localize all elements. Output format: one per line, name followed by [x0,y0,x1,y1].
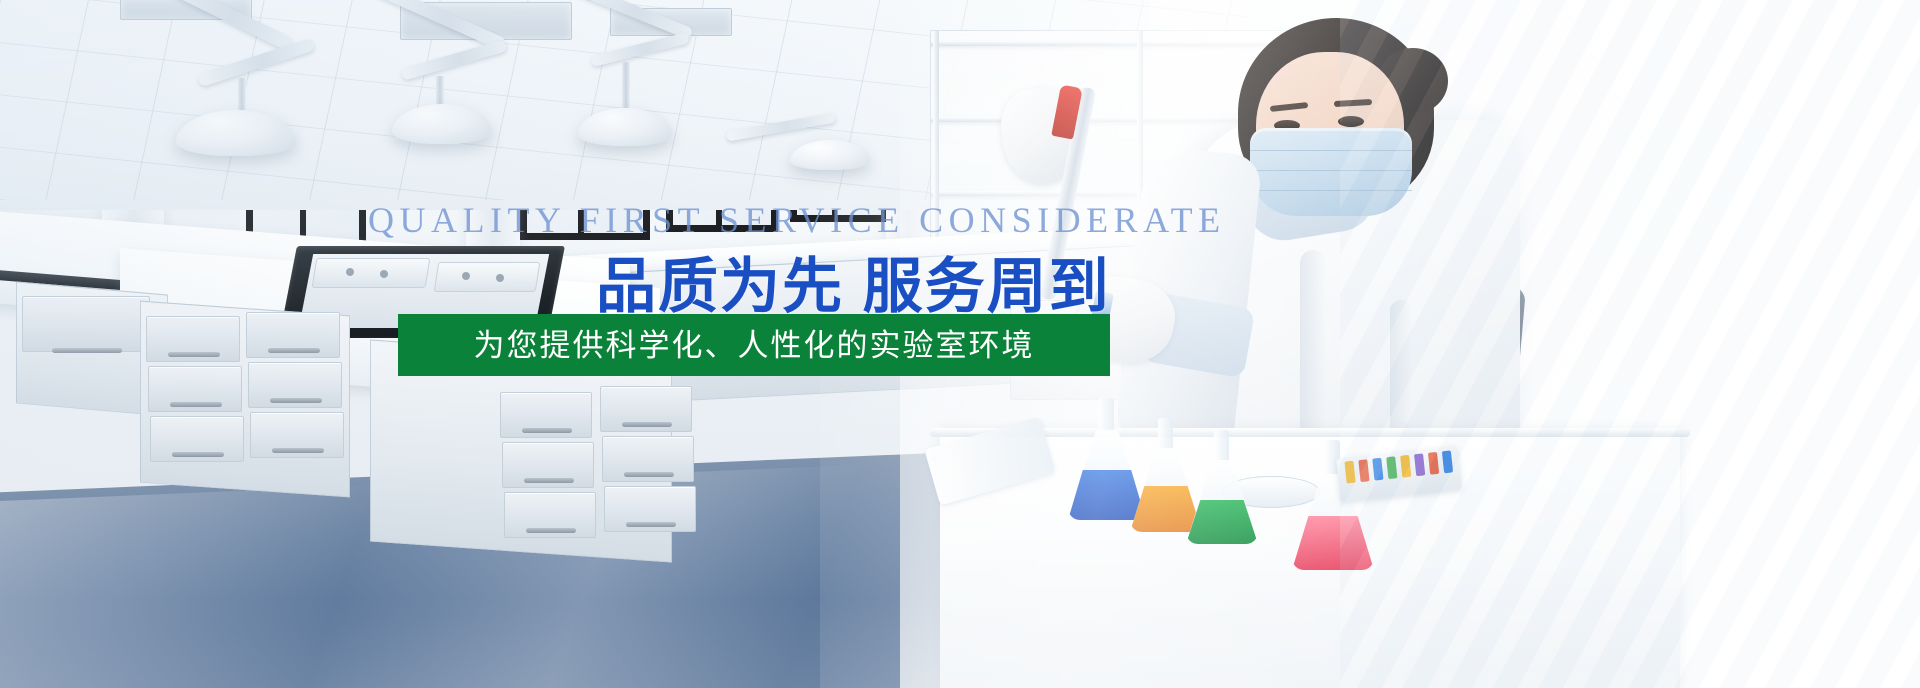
extraction-arm-joint [622,62,630,112]
drawer-handle [622,422,672,427]
banner-subtitle-text: 为您提供科学化、人性化的实验室环境 [474,330,1035,361]
test-tube [1428,452,1439,475]
mask-pleat [1250,150,1412,151]
test-tube [1386,456,1397,479]
test-tube [1372,458,1383,481]
socket-knob [496,274,504,282]
drawer-handle [524,478,574,483]
test-tube [1400,455,1411,478]
mask-pleat [1250,170,1412,171]
socket-knob [346,268,354,276]
bench-socket-strip [312,258,431,288]
drawer-handle [268,348,320,353]
banner-headline: 品质为先 服务周到 [596,253,1111,320]
drawer-handle [526,528,576,533]
drawer-handle [522,428,572,433]
test-tube [1344,461,1355,484]
drawer-handle [170,402,222,407]
test-tube [1414,453,1425,476]
banner-subtitle-bar: 为您提供科学化、人性化的实验室环境 [398,314,1110,376]
mask-pleat [1250,190,1412,191]
drawer-handle [172,452,224,457]
flask-neck [1214,430,1229,464]
bench-drawer [22,296,150,352]
test-tube [1442,450,1453,473]
drawer-handle [270,398,322,403]
face-mask [1250,128,1412,216]
test-tube [1358,459,1369,482]
eye-right [1338,116,1364,127]
socket-knob [462,272,470,280]
drawer-handle [52,348,122,353]
drawer-handle [626,522,676,527]
socket-knob [380,270,388,278]
flask-neck [1158,418,1173,452]
drawer-handle [272,448,324,453]
promo-banner: QUALITY FIRST SERVICE CONSIDERATE 品质为先 服… [0,0,1920,688]
drawer-handle [168,352,220,357]
banner-eyebrow-text: QUALITY FIRST SERVICE CONSIDERATE [368,202,1028,238]
drawer-handle [624,472,674,477]
bench-socket-strip [434,262,541,292]
flask-neck [1098,398,1114,434]
